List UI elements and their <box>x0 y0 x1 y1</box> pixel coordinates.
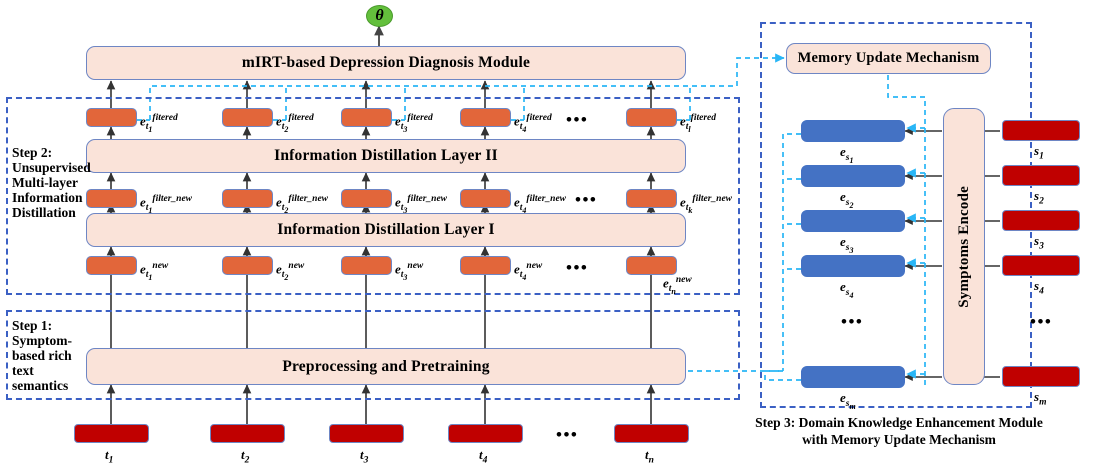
label-filtered-1: et1fitered <box>140 113 178 134</box>
chip-filtered-4[interactable] <box>460 108 511 127</box>
chip-filtered-3[interactable] <box>341 108 392 127</box>
chip-new-2[interactable] <box>222 256 273 275</box>
label-raw-text-2: t2 <box>241 447 249 466</box>
chip-filtered-last[interactable] <box>626 108 677 127</box>
chip-filternew-2[interactable] <box>222 189 273 208</box>
label-symptom-2: s2 <box>1034 188 1044 207</box>
label-new-4: et4new <box>514 261 542 282</box>
step3-caption: Step 3: Domain Knowledge Enhancement Mod… <box>744 415 1054 449</box>
label-raw-text-4: t4 <box>479 447 487 466</box>
chip-new-last[interactable] <box>626 256 677 275</box>
label-raw-text-last: tn <box>645 447 654 466</box>
symptom-chip-3[interactable] <box>1002 210 1080 231</box>
label-memory-2: es2 <box>840 189 853 209</box>
chip-filternew-last[interactable] <box>626 189 677 208</box>
chip-new-1[interactable] <box>86 256 137 275</box>
information-distillation-layer-1[interactable]: Information Distillation Layer I <box>86 213 686 247</box>
symptoms-encode-module[interactable]: Symptoms Encode <box>943 108 985 385</box>
symptom-chip-last[interactable] <box>1002 366 1080 387</box>
mirt-diagnosis-module[interactable]: mIRT-based Depression Diagnosis Module <box>86 46 686 80</box>
label-new-2: et2new <box>276 261 304 282</box>
memory-chip-2[interactable] <box>801 165 905 187</box>
label-new-3: et3new <box>395 261 423 282</box>
label-filternew-last: etkfilter_new <box>680 194 732 215</box>
architecture-diagram: θ mIRT-based Depression Diagnosis Module… <box>0 0 1094 469</box>
label-memory-4: es4 <box>840 279 853 299</box>
label-filtered-last: etlfitered <box>680 113 716 134</box>
label-symptom-4: s4 <box>1034 278 1044 297</box>
chip-new-3[interactable] <box>341 256 392 275</box>
symptom-chip-2[interactable] <box>1002 165 1080 186</box>
ellipsis-filternew-row: ••• <box>575 190 597 210</box>
chip-new-4[interactable] <box>460 256 511 275</box>
memory-chip-last[interactable] <box>801 366 905 388</box>
label-filternew-4: et4filter_new <box>514 194 566 215</box>
information-distillation-layer-2[interactable]: Information Distillation Layer II <box>86 139 686 173</box>
label-symptom-3: s3 <box>1034 233 1044 252</box>
label-memory-3: es3 <box>840 234 853 254</box>
label-memory-last: esm <box>840 390 856 410</box>
label-raw-text-1: t1 <box>105 447 113 466</box>
step3-caption-line1: Step 3: Domain Knowledge Enhancement Mod… <box>744 415 1054 432</box>
ellipsis-filtered-row: ••• <box>566 110 588 130</box>
label-new-last: etnnew <box>663 275 692 296</box>
symptom-chip-4[interactable] <box>1002 255 1080 276</box>
memory-chip-1[interactable] <box>801 120 905 142</box>
label-symptom-1: s1 <box>1034 143 1044 162</box>
label-filtered-4: et4fitered <box>514 113 552 134</box>
label-filternew-3: et3filter_new <box>395 194 447 215</box>
preprocessing-pretraining-module[interactable]: Preprocessing and Pretraining <box>86 348 686 385</box>
ellipsis-raw-text-row: ••• <box>556 425 578 445</box>
chip-raw-text-3[interactable] <box>329 424 404 443</box>
label-filternew-1: et1filter_new <box>140 194 192 215</box>
label-raw-text-3: t3 <box>360 447 368 466</box>
chip-filternew-1[interactable] <box>86 189 137 208</box>
theta-output-node: θ <box>366 5 393 27</box>
chip-filtered-1[interactable] <box>86 108 137 127</box>
memory-chip-4[interactable] <box>801 255 905 277</box>
symptoms-encode-label: Symptoms Encode <box>956 186 973 308</box>
chip-raw-text-1[interactable] <box>74 424 149 443</box>
chip-filternew-4[interactable] <box>460 189 511 208</box>
label-filtered-2: et2fitered <box>276 113 314 134</box>
chip-raw-text-2[interactable] <box>210 424 285 443</box>
ellipsis-new-row: ••• <box>566 258 588 278</box>
chip-raw-text-4[interactable] <box>448 424 523 443</box>
ellipsis-symptom-column: ••• <box>1030 312 1052 332</box>
memory-chip-3[interactable] <box>801 210 905 232</box>
label-symptom-last: sm <box>1034 389 1046 408</box>
ellipsis-memory-column: ••• <box>841 312 863 332</box>
step3-caption-line2: with Memory Update Mechanism <box>744 432 1054 449</box>
label-filternew-2: et2filter_new <box>276 194 328 215</box>
label-memory-1: es1 <box>840 144 853 164</box>
chip-filtered-2[interactable] <box>222 108 273 127</box>
chip-filternew-3[interactable] <box>341 189 392 208</box>
chip-raw-text-last[interactable] <box>614 424 689 443</box>
label-new-1: et1new <box>140 261 168 282</box>
symptom-chip-1[interactable] <box>1002 120 1080 141</box>
step1-label: Step 1: Symptom- based rich text semanti… <box>12 318 90 394</box>
label-filtered-3: et3fitered <box>395 113 433 134</box>
step2-label: Step 2: Unsupervised Multi-layer Informa… <box>12 145 92 221</box>
memory-update-mechanism-module[interactable]: Memory Update Mechanism <box>786 43 991 74</box>
